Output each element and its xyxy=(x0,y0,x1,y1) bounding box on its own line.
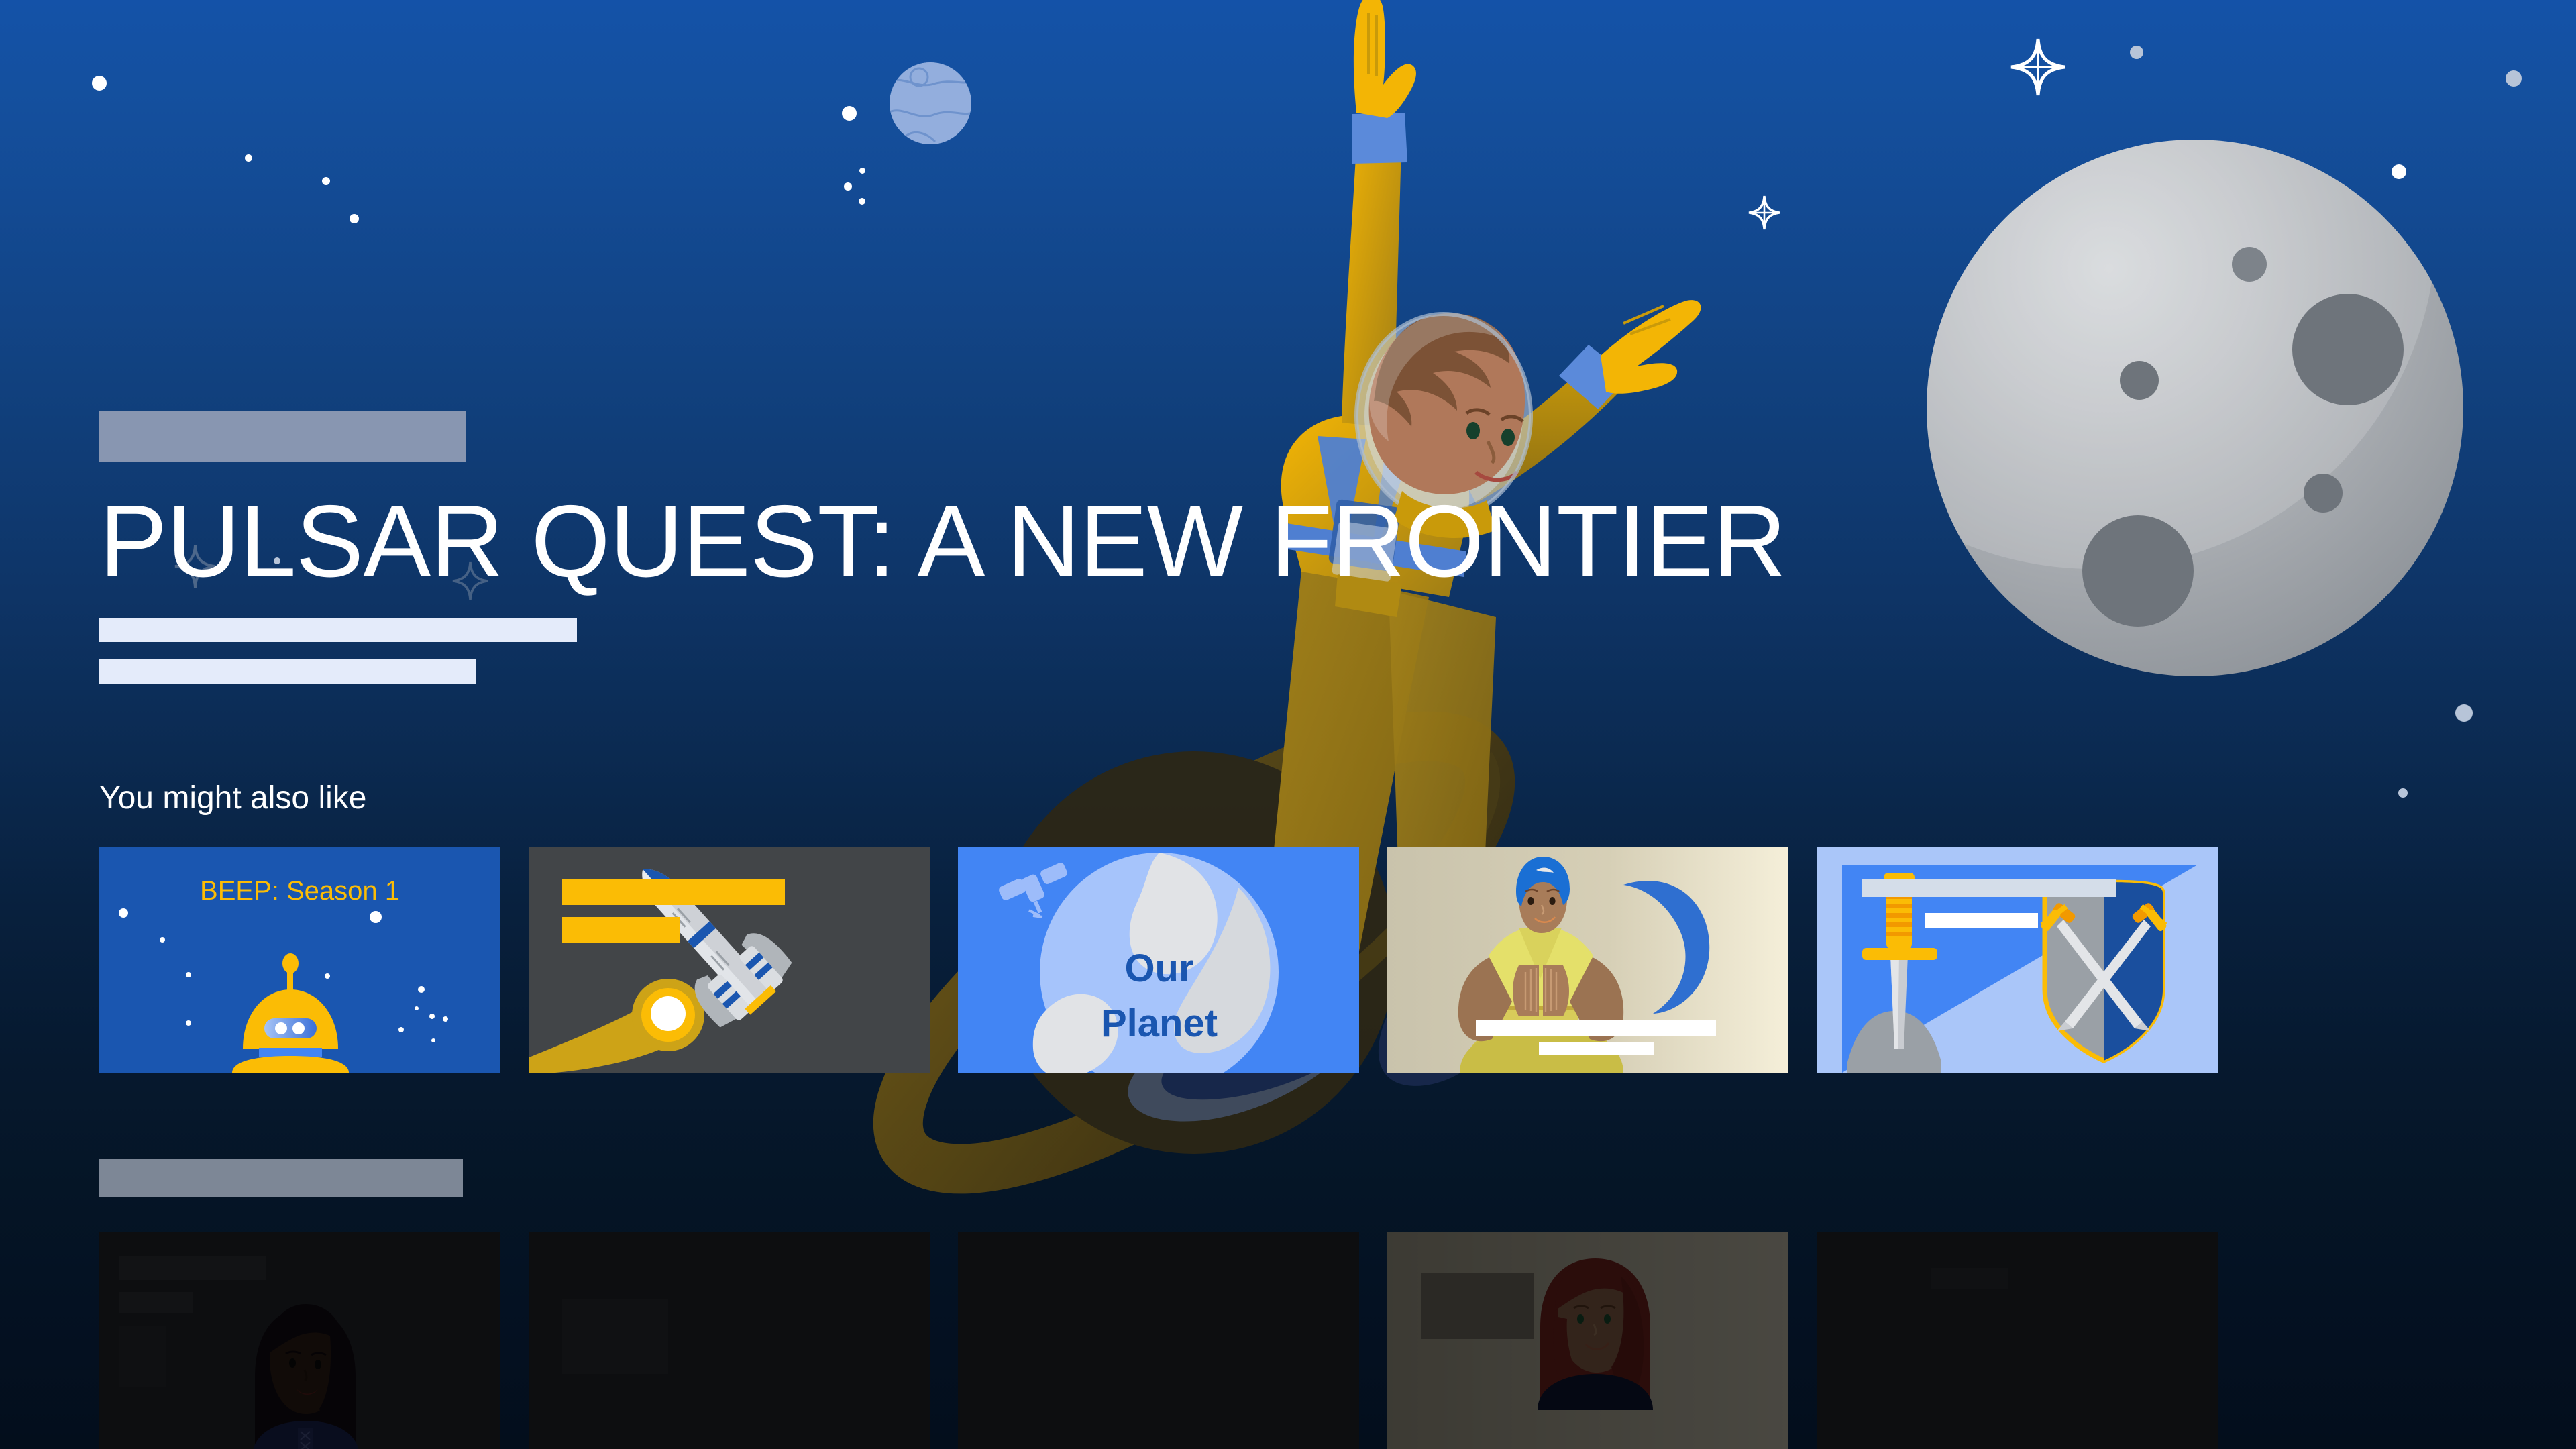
card-row xyxy=(99,1232,2487,1449)
star xyxy=(322,177,330,185)
hero-subtitle-placeholder-1 xyxy=(99,618,577,642)
card-meditation[interactable] xyxy=(1387,847,1788,1073)
card-blank-b[interactable] xyxy=(958,1232,1359,1449)
card-placeholder-bar xyxy=(1476,1020,1716,1036)
moon-crater xyxy=(2232,247,2267,282)
svg-text:Our: Our xyxy=(1124,947,1193,990)
card-rocket-launch[interactable] xyxy=(529,847,930,1073)
star xyxy=(350,214,359,223)
card-sword-and-shield[interactable] xyxy=(1817,847,2218,1073)
card-our-planet[interactable]: Our Planet xyxy=(958,847,1359,1073)
star xyxy=(2455,704,2473,722)
hero-subtitle-placeholder-2 xyxy=(99,659,476,684)
star xyxy=(245,154,252,162)
shelf-title: You might also like xyxy=(99,780,2487,816)
page-title: PULSAR QUEST: A NEW FRONTIER xyxy=(99,490,1951,594)
star xyxy=(2506,70,2522,87)
card-placeholder-bar xyxy=(1862,879,2116,897)
moon-graphic xyxy=(1927,140,2463,676)
card-beep-season-1[interactable]: BEEP: Season 1 BEEP: Season 1 xyxy=(99,847,500,1073)
card-portrait-dark-hair[interactable] xyxy=(99,1232,500,1449)
star xyxy=(842,106,857,121)
shelf-second xyxy=(99,1159,2487,1449)
star xyxy=(844,182,852,191)
shelf-title-placeholder xyxy=(99,1159,463,1197)
moon-crater xyxy=(2120,361,2159,400)
card-blank-a[interactable] xyxy=(529,1232,930,1449)
star xyxy=(859,198,865,205)
card-placeholder-bar xyxy=(1925,913,2038,928)
moon-crater xyxy=(2292,294,2404,405)
star xyxy=(2130,46,2143,59)
hero-page: PULSAR QUEST: A NEW FRONTIER You might a… xyxy=(0,0,2576,1449)
sparkle-star-icon xyxy=(1748,195,1781,231)
card-blank-c[interactable] xyxy=(1817,1232,2218,1449)
card-placeholder-bar xyxy=(562,879,785,905)
card-portrait-red-hair[interactable] xyxy=(1387,1232,1788,1449)
hero-text-block: PULSAR QUEST: A NEW FRONTIER xyxy=(99,411,1951,684)
shelf-you-might-also-like: You might also like xyxy=(99,780,2487,1073)
moon-crater xyxy=(2304,474,2343,513)
sparkle-star-icon xyxy=(2009,37,2067,97)
moon-crater xyxy=(2082,515,2194,627)
card-placeholder-bar xyxy=(562,917,680,943)
card-placeholder-bar xyxy=(1539,1042,1654,1055)
star xyxy=(859,168,865,174)
star xyxy=(92,76,107,91)
svg-text:Planet: Planet xyxy=(1101,1002,1218,1045)
hero-badge-placeholder xyxy=(99,411,466,462)
card-row: BEEP: Season 1 BEEP: Season 1 xyxy=(99,847,2487,1073)
